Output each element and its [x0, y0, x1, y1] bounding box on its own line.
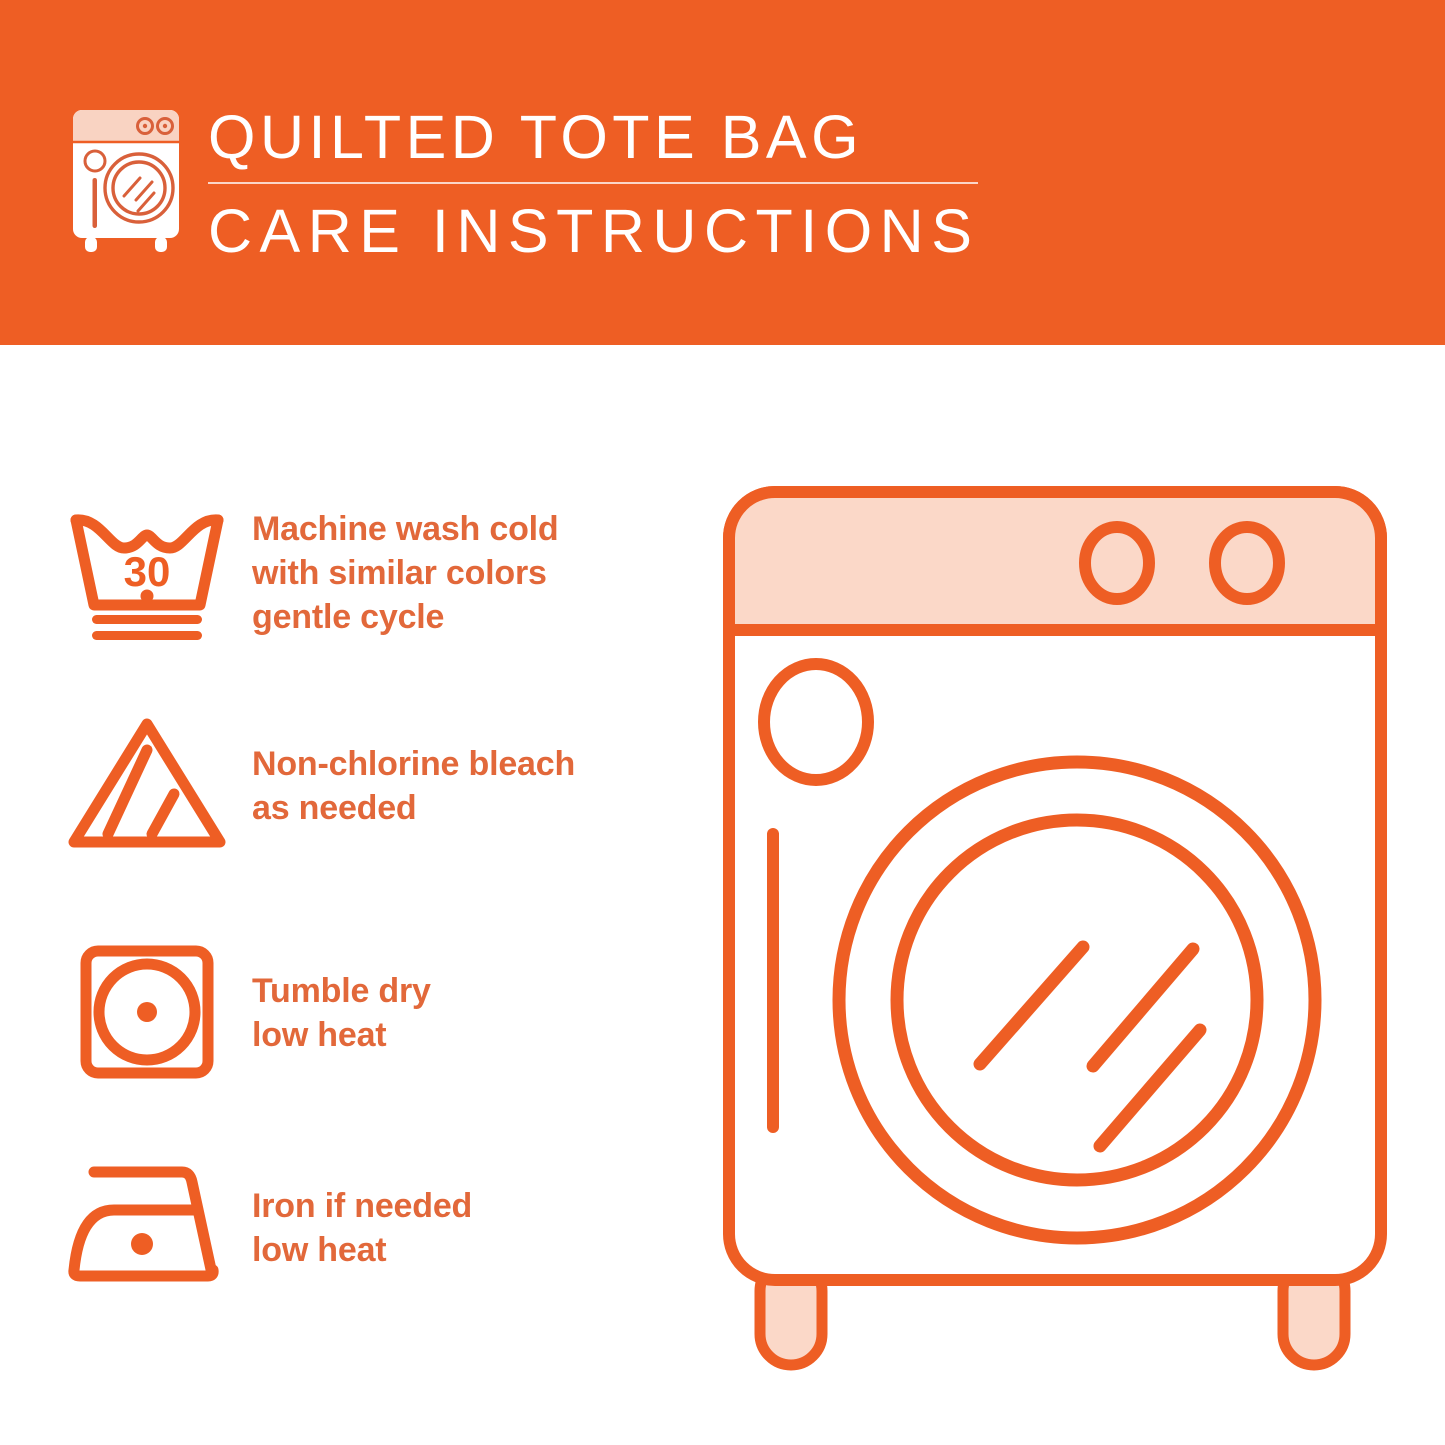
care-line: Machine wash cold [252, 507, 558, 551]
care-text-iron: Iron if needed low heat [252, 1184, 472, 1272]
machine-wash-tub-30-gentle-icon: 30 [62, 490, 242, 655]
page-title: QUILTED TOTE BAG [208, 102, 988, 172]
header-banner: QUILTED TOTE BAG CARE INSTRUCTIONS [0, 0, 1445, 345]
wash-temperature-label: 30 [124, 548, 171, 595]
care-line: gentle cycle [252, 595, 558, 639]
page-subtitle: CARE INSTRUCTIONS [208, 196, 988, 266]
iron-low-heat-icon [62, 1145, 242, 1310]
washing-machine-logo-icon [66, 104, 186, 252]
care-text-bleach: Non-chlorine bleach as needed [252, 742, 575, 830]
care-row-iron: Iron if needed low heat [0, 1145, 700, 1310]
care-line: Non-chlorine bleach [252, 742, 575, 786]
care-row-bleach: Non-chlorine bleach as needed [0, 703, 700, 868]
tumble-dry-low-heat-icon [62, 930, 242, 1095]
care-line: with similar colors [252, 551, 558, 595]
washing-machine-illustration [705, 470, 1405, 1380]
care-line: Iron if needed [252, 1184, 472, 1228]
care-line: low heat [252, 1228, 472, 1272]
care-text-tumble-dry: Tumble dry low heat [252, 969, 431, 1057]
care-line: as needed [252, 786, 575, 830]
care-row-machine-wash: 30 Machine wash cold with similar colors… [0, 490, 700, 655]
care-text-machine-wash: Machine wash cold with similar colors ge… [252, 507, 558, 639]
care-row-tumble-dry: Tumble dry low heat [0, 930, 700, 1095]
care-line: Tumble dry [252, 969, 431, 1013]
header-text-block: QUILTED TOTE BAG CARE INSTRUCTIONS [208, 102, 988, 266]
care-line: low heat [252, 1013, 431, 1057]
non-chlorine-bleach-triangle-icon [62, 703, 242, 868]
title-divider [208, 182, 978, 184]
care-instructions-list: 30 Machine wash cold with similar colors… [0, 345, 700, 1445]
